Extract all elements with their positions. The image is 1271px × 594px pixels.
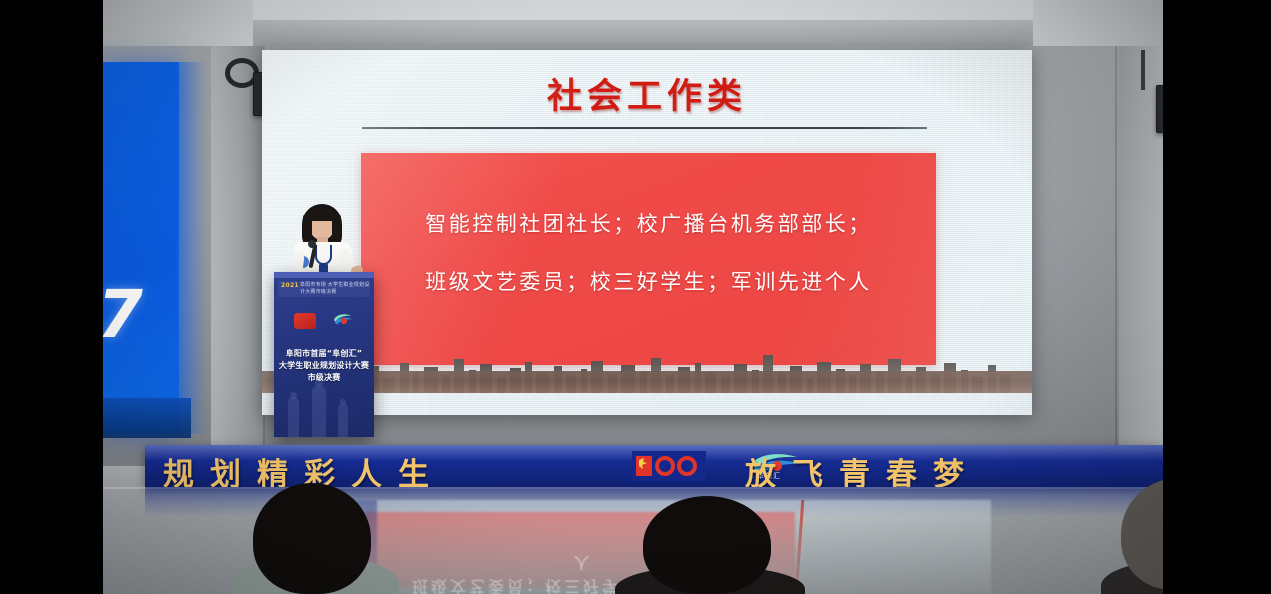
- slide-title-divider: [362, 127, 927, 129]
- banner-right-text: 放飞青春梦: [745, 449, 980, 487]
- side-display-panel: 7: [103, 62, 179, 434]
- screenshot-root: 7 社会工作类 智能控制社团社长；校广播台机务部部长； 班级文艺委员；校三好学生…: [0, 0, 1271, 594]
- ceiling: [103, 0, 1163, 52]
- stage-banner: 规划精彩人生 阜创汇 放飞青: [145, 445, 1163, 487]
- letterbox-bar-right: [1163, 0, 1271, 594]
- wall-conduit: [1141, 50, 1145, 90]
- sponsor-logo-red-icon: [294, 313, 316, 329]
- slide-content-box: 智能控制社团社长；校广播台机务部部长； 班级文艺委员；校三好学生；军训先进个人: [361, 153, 936, 365]
- stage-photograph: 7 社会工作类 智能控制社团社长；校广播台机务部部长； 班级文艺委员；校三好学生…: [103, 0, 1163, 594]
- side-display-glow: [177, 62, 207, 434]
- ceiling-slab: [238, 0, 1048, 20]
- slide-skyline-reflection: [262, 371, 1032, 393]
- cpc-100-emblem-icon: [632, 451, 706, 481]
- audience-head: [643, 496, 771, 594]
- side-display-digit: 7: [103, 276, 139, 353]
- podium-header-text: 阜阳市专场 大学生职业规划设计大赛市级决赛: [300, 282, 370, 296]
- presenter: [275, 200, 371, 282]
- microphone-head-icon: [308, 240, 316, 248]
- podium-people-graphic: [274, 379, 374, 437]
- banner-left-text: 规划精彩人生: [163, 449, 445, 487]
- fuchuanghui-logo-icon: [332, 311, 354, 331]
- ceiling-speaker-right-icon: [1156, 85, 1163, 133]
- presentation-screen: 社会工作类 智能控制社团社长；校广播台机务部部长； 班级文艺委员；校三好学生；军…: [262, 50, 1032, 415]
- ceiling-angle-left: [103, 0, 253, 52]
- slide-title: 社会工作类: [262, 68, 1032, 119]
- slide-skyline-graphic: [262, 341, 1032, 393]
- podium-top-edge: [274, 272, 374, 278]
- presenter-lanyard: [315, 245, 332, 265]
- wall-seam-right: [1115, 46, 1117, 446]
- slide-content-line-1: 智能控制社团社长；校广播台机务部部长；: [361, 208, 936, 238]
- slide-content-line-2: 班级文艺委员；校三好学生；军训先进个人: [361, 266, 936, 296]
- podium-year: 2021: [281, 282, 299, 289]
- podium-logos: [274, 308, 374, 334]
- letterbox-bar-left: [0, 0, 103, 594]
- podium: 2021 阜阳市专场 大学生职业规划设计大赛市级决赛 阜阳市首届“阜创汇” 大学…: [274, 272, 374, 437]
- side-display-base: [103, 398, 191, 438]
- podium-title-line-1: 阜阳市首届“阜创汇”: [277, 348, 371, 360]
- podium-title-line-2: 大学生职业规划设计大赛: [277, 360, 371, 372]
- ceiling-angle-right: [1033, 0, 1163, 52]
- audience-head: [253, 483, 371, 594]
